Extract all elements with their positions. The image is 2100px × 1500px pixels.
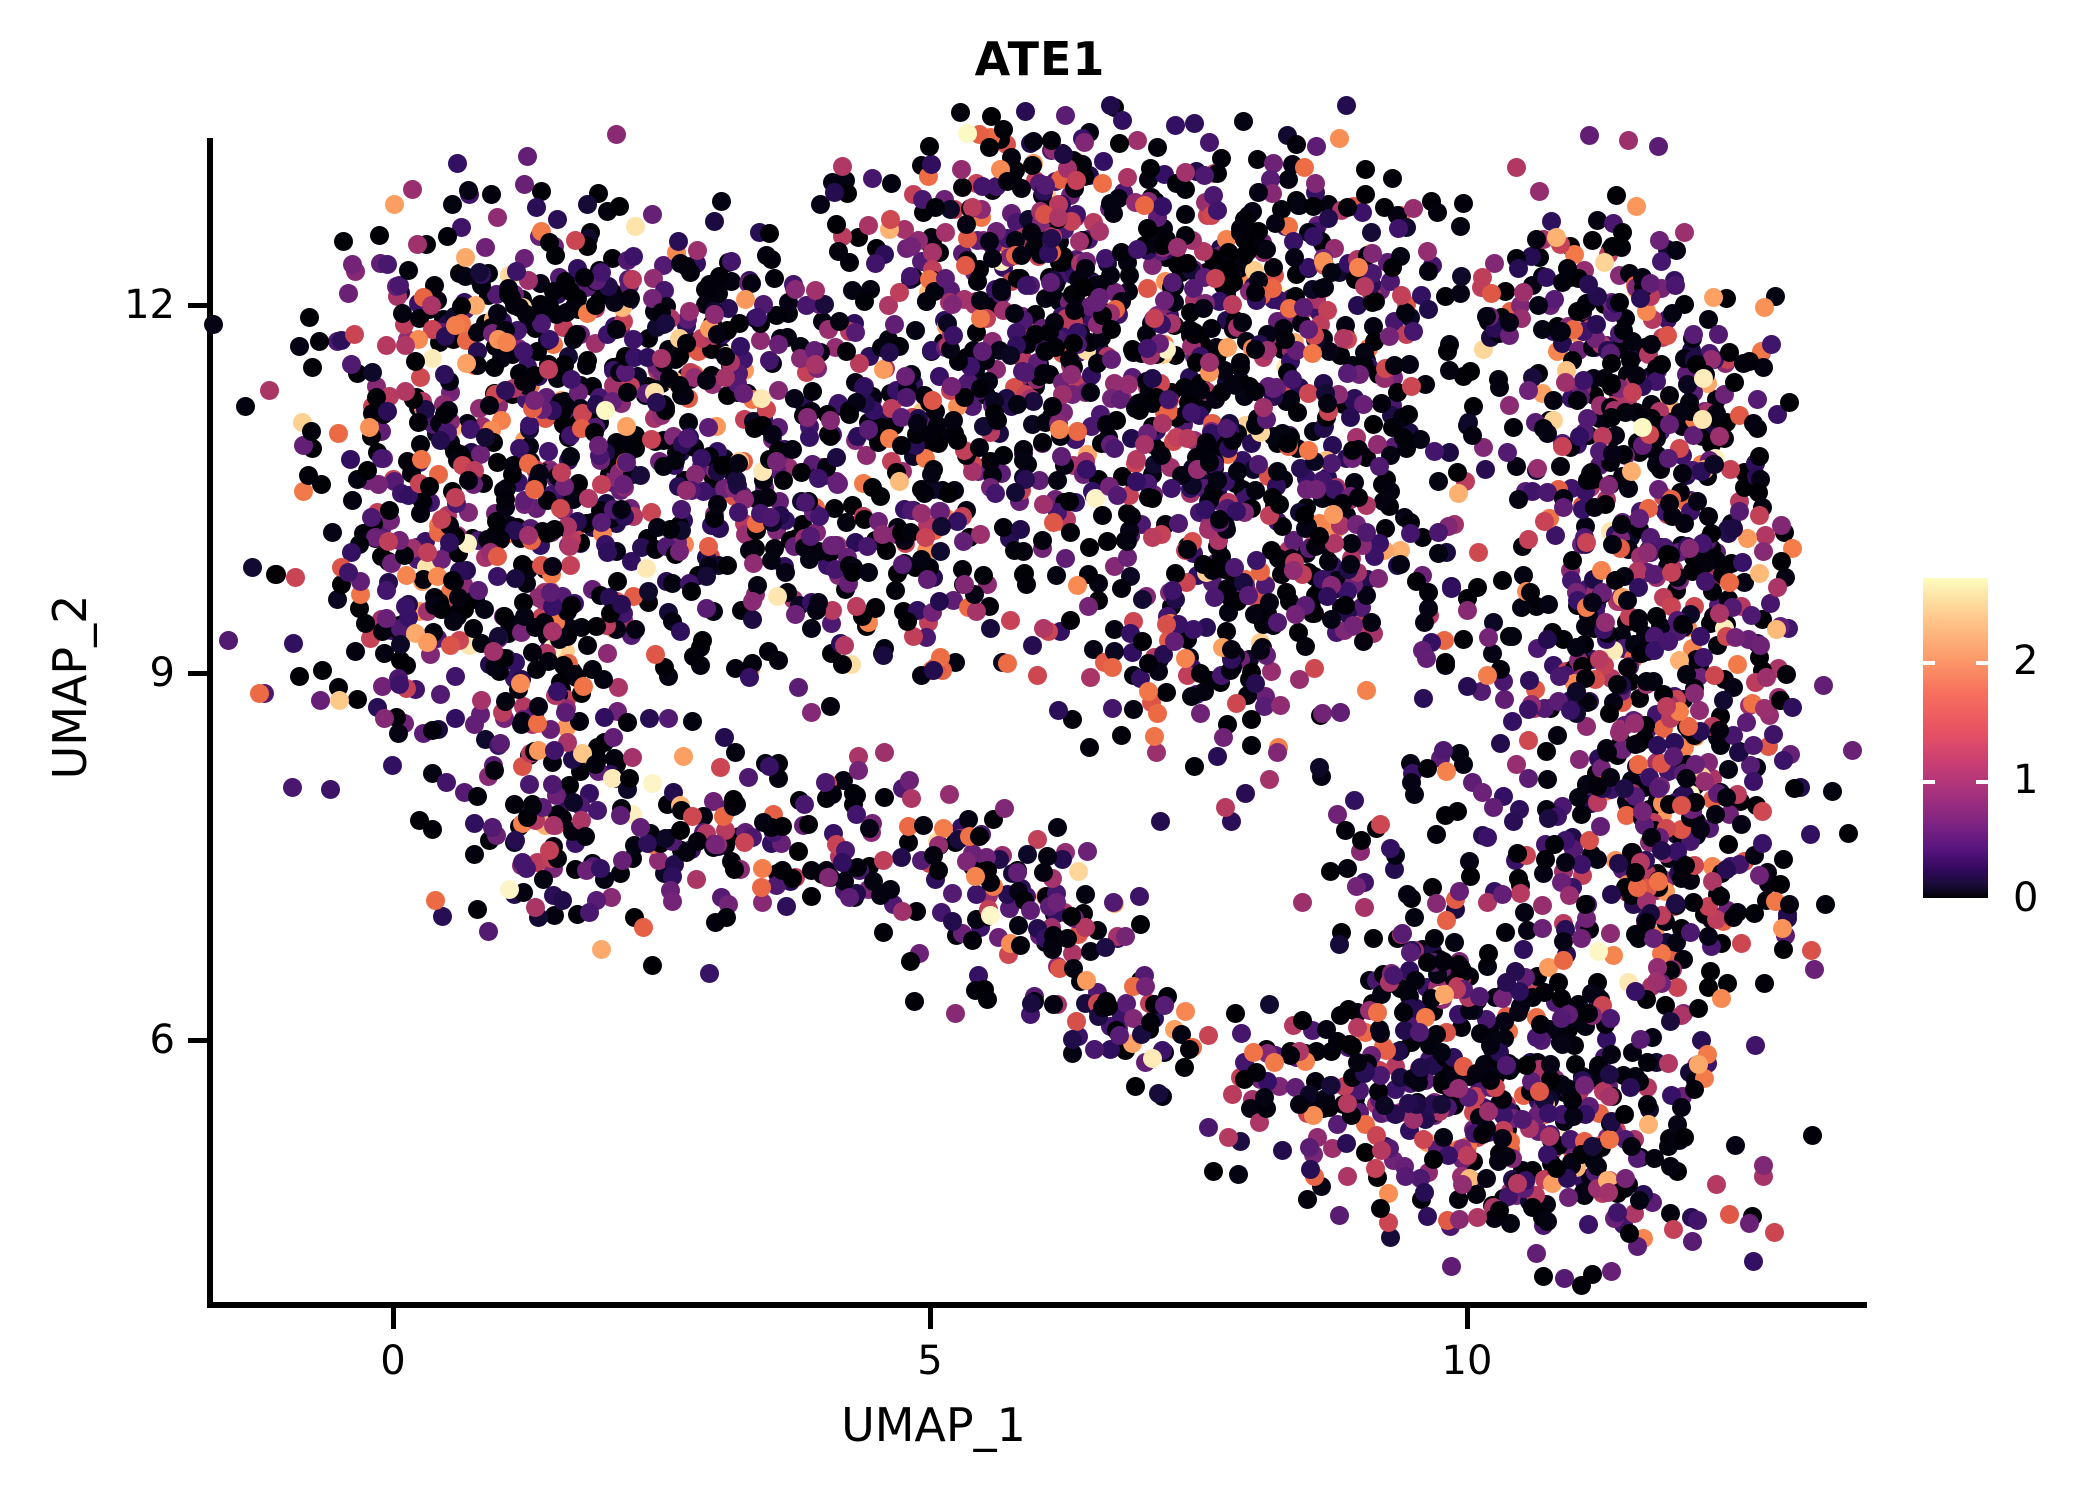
- scatter-point: [456, 248, 475, 267]
- scatter-point: [1744, 772, 1763, 791]
- scatter-point: [1348, 1053, 1367, 1072]
- scatter-point: [1567, 682, 1586, 701]
- scatter-point: [1551, 457, 1570, 476]
- scatter-point: [475, 600, 494, 619]
- scatter-point: [1279, 170, 1298, 189]
- scatter-point: [377, 581, 396, 600]
- colorbar-tick-mark: [1923, 780, 1935, 784]
- scatter-point: [922, 465, 941, 484]
- scatter-point: [520, 416, 539, 435]
- scatter-point: [1178, 540, 1197, 559]
- scatter-point: [1075, 133, 1094, 152]
- scatter-point: [266, 565, 285, 584]
- scatter-point: [1014, 451, 1033, 470]
- scatter-point: [1148, 704, 1167, 723]
- scatter-point: [437, 773, 456, 792]
- scatter-point: [1348, 1018, 1367, 1037]
- scatter-point: [1313, 704, 1332, 723]
- scatter-point: [914, 816, 933, 835]
- scatter-point: [1411, 1058, 1430, 1077]
- scatter-point: [1504, 418, 1523, 437]
- scatter-point: [892, 436, 911, 455]
- scatter-point: [1133, 590, 1152, 609]
- scatter-point: [1479, 628, 1498, 647]
- scatter-point: [1049, 208, 1068, 227]
- scatter-point: [643, 956, 662, 975]
- scatter-point: [468, 900, 487, 919]
- scatter-point: [1399, 405, 1418, 424]
- scatter-point: [1022, 994, 1041, 1013]
- scatter-point: [294, 482, 313, 501]
- scatter-point: [942, 377, 961, 396]
- scatter-point: [396, 597, 415, 616]
- scatter-point: [905, 992, 924, 1011]
- scatter-point: [470, 263, 489, 282]
- scatter-point: [1078, 842, 1097, 861]
- scatter-point: [1744, 1252, 1763, 1271]
- scatter-point: [1254, 398, 1273, 417]
- scatter-point: [408, 235, 427, 254]
- scatter-point: [1585, 498, 1604, 517]
- scatter-point: [924, 846, 943, 865]
- scatter-point: [1568, 391, 1587, 410]
- scatter-point: [800, 428, 819, 447]
- scatter-point: [1684, 893, 1703, 912]
- scatter-point: [918, 570, 937, 589]
- scatter-point: [363, 363, 382, 382]
- scatter-point: [1689, 999, 1708, 1018]
- scatter-point: [1038, 847, 1057, 866]
- scatter-point: [432, 510, 451, 529]
- scatter-point: [1024, 132, 1043, 151]
- scatter-point: [672, 500, 691, 519]
- scatter-point: [912, 504, 931, 523]
- scatter-point: [809, 469, 828, 488]
- scatter-point: [802, 887, 821, 906]
- scatter-point: [1219, 1128, 1238, 1147]
- scatter-point: [1175, 1058, 1194, 1077]
- scatter-point: [1603, 535, 1622, 554]
- scatter-point: [1751, 636, 1770, 655]
- scatter-point: [1375, 1096, 1394, 1115]
- scatter-point: [1389, 219, 1408, 238]
- scatter-point: [1392, 286, 1411, 305]
- scatter-point: [1602, 1262, 1621, 1281]
- scatter-point: [776, 563, 795, 582]
- scatter-point: [1028, 666, 1047, 685]
- scatter-point: [1673, 615, 1692, 634]
- scatter-point: [677, 257, 696, 276]
- scatter-point: [1418, 1207, 1437, 1226]
- scatter-point: [1572, 929, 1591, 948]
- scatter-point: [762, 250, 781, 269]
- scatter-point: [954, 532, 973, 551]
- scatter-point: [1338, 364, 1357, 383]
- scatter-point: [1226, 1004, 1245, 1023]
- scatter-point: [1750, 447, 1769, 466]
- scatter-point: [760, 224, 779, 243]
- x-tick-label: 0: [380, 1338, 405, 1384]
- scatter-point: [1299, 320, 1318, 339]
- scatter-point: [1531, 1015, 1550, 1034]
- scatter-point: [1750, 564, 1769, 583]
- scatter-point: [1018, 845, 1037, 864]
- scatter-point: [1764, 725, 1783, 744]
- scatter-point: [1310, 527, 1329, 546]
- scatter-point: [1081, 383, 1100, 402]
- x-tick-mark: [1465, 1307, 1470, 1329]
- scatter-point: [1352, 831, 1371, 850]
- scatter-point: [1755, 298, 1774, 317]
- scatter-point: [283, 778, 302, 797]
- scatter-point: [1116, 927, 1135, 946]
- scatter-point: [829, 242, 848, 261]
- scatter-point: [438, 227, 457, 246]
- scatter-point: [994, 446, 1013, 465]
- scatter-point: [882, 174, 901, 193]
- scatter-point: [1767, 620, 1786, 639]
- scatter-point: [564, 793, 583, 812]
- scatter-point: [1110, 134, 1129, 153]
- scatter-point: [472, 691, 491, 710]
- scatter-point: [1714, 691, 1733, 710]
- scatter-point: [1044, 513, 1063, 532]
- scatter-point: [1128, 131, 1147, 150]
- scatter-point: [708, 495, 727, 514]
- scatter-point: [1623, 383, 1642, 402]
- scatter-point: [1633, 802, 1652, 821]
- scatter-point: [1136, 977, 1155, 996]
- scatter-point: [1062, 365, 1081, 384]
- scatter-point: [982, 107, 1001, 126]
- colorbar-tick-label: 0: [2013, 875, 2038, 921]
- scatter-point: [1331, 703, 1350, 722]
- scatter-point: [1556, 373, 1575, 392]
- scatter-point: [1307, 137, 1326, 156]
- scatter-point: [578, 195, 597, 214]
- scatter-point: [484, 642, 503, 661]
- scatter-point: [1141, 159, 1160, 178]
- scatter-point: [1242, 710, 1261, 729]
- scatter-point: [1538, 630, 1557, 649]
- scatter-point: [1165, 632, 1184, 651]
- scatter-point: [1349, 258, 1368, 277]
- scatter-point: [1347, 877, 1366, 896]
- scatter-point: [1404, 199, 1423, 218]
- scatter-point: [500, 880, 519, 899]
- scatter-point: [866, 254, 885, 273]
- scatter-point: [1069, 862, 1088, 881]
- scatter-point: [688, 832, 707, 851]
- scatter-point: [773, 817, 792, 836]
- scatter-point: [1772, 552, 1791, 571]
- scatter-point: [1124, 700, 1143, 719]
- scatter-point: [1740, 1214, 1759, 1233]
- scatter-point: [767, 452, 786, 471]
- scatter-point: [379, 532, 398, 551]
- scatter-point: [1578, 409, 1597, 428]
- scatter-point: [1349, 488, 1368, 507]
- scatter-point: [1006, 483, 1025, 502]
- scatter-point: [1699, 927, 1718, 946]
- scatter-point: [1217, 419, 1236, 438]
- scatter-point: [1438, 342, 1457, 361]
- scatter-point: [1410, 1023, 1429, 1042]
- scatter-point: [1652, 355, 1671, 374]
- scatter-point: [560, 537, 579, 556]
- scatter-point: [1163, 273, 1182, 292]
- scatter-point: [1724, 908, 1743, 927]
- scatter-point: [545, 741, 564, 760]
- scatter-point: [411, 504, 430, 523]
- scatter-point: [1537, 742, 1556, 761]
- scatter-point: [1108, 486, 1127, 505]
- scatter-point: [769, 335, 788, 354]
- scatter-point: [1540, 1127, 1559, 1146]
- scatter-point: [1470, 987, 1489, 1006]
- scatter-point: [819, 868, 838, 887]
- scatter-point: [342, 355, 361, 374]
- scatter-point: [1336, 821, 1355, 840]
- scatter-point: [526, 898, 545, 917]
- scatter-point: [422, 296, 441, 315]
- scatter-point: [1225, 558, 1244, 577]
- scatter-point: [1489, 370, 1508, 389]
- scatter-point: [310, 332, 329, 351]
- scatter-point: [835, 636, 854, 655]
- scatter-point: [250, 684, 269, 703]
- scatter-point: [1508, 1174, 1527, 1193]
- scatter-point: [684, 647, 703, 666]
- scatter-point: [1168, 238, 1187, 257]
- scatter-point: [1563, 551, 1582, 570]
- scatter-point: [1135, 435, 1154, 454]
- scatter-point: [1236, 784, 1255, 803]
- scatter-point: [1318, 301, 1337, 320]
- scatter-point: [1755, 974, 1774, 993]
- scatter-point: [1044, 995, 1063, 1014]
- scatter-point: [1600, 1130, 1619, 1149]
- scatter-point: [1662, 563, 1681, 582]
- scatter-point: [743, 592, 762, 611]
- colorbar-tick-label: 1: [2013, 757, 2038, 803]
- scatter-point: [1534, 1267, 1553, 1286]
- scatter-point: [874, 851, 893, 870]
- scatter-point: [710, 267, 729, 286]
- scatter-point: [1023, 636, 1042, 655]
- scatter-point: [1357, 523, 1376, 542]
- scatter-point: [952, 160, 971, 179]
- scatter-point: [385, 195, 404, 214]
- scatter-point: [418, 543, 437, 562]
- scatter-point: [1547, 228, 1566, 247]
- scatter-point: [943, 295, 962, 314]
- scatter-point: [1246, 674, 1265, 693]
- scatter-point: [518, 147, 537, 166]
- scatter-point: [1428, 203, 1447, 222]
- scatter-point: [847, 597, 866, 616]
- scatter-point: [1436, 653, 1455, 672]
- scatter-point: [1450, 744, 1469, 763]
- scatter-point: [1021, 901, 1040, 920]
- scatter-point: [1127, 472, 1146, 491]
- scatter-point: [1666, 276, 1685, 295]
- scatter-point: [488, 304, 507, 323]
- scatter-point: [1748, 390, 1767, 409]
- scatter-point: [1398, 981, 1417, 1000]
- scatter-point: [596, 401, 615, 420]
- scatter-point: [1675, 223, 1694, 242]
- scatter-points-layer: [0, 0, 2100, 1500]
- scatter-point: [1667, 241, 1686, 260]
- scatter-point: [488, 208, 507, 227]
- scatter-point: [302, 422, 321, 441]
- scatter-point: [1033, 531, 1052, 550]
- scatter-point: [1178, 254, 1197, 273]
- scatter-point: [556, 703, 575, 722]
- scatter-point: [1081, 668, 1100, 687]
- scatter-point: [1761, 594, 1780, 613]
- scatter-point: [875, 743, 894, 762]
- scatter-point: [1754, 1156, 1773, 1175]
- scatter-point: [1434, 952, 1453, 971]
- scatter-point: [769, 651, 788, 670]
- scatter-point: [1380, 327, 1399, 346]
- scatter-point: [1424, 1150, 1443, 1169]
- scatter-point: [1419, 262, 1438, 281]
- scatter-point: [345, 325, 364, 344]
- scatter-point: [751, 331, 770, 350]
- y-tick-label: 12: [90, 282, 175, 328]
- scatter-point: [1194, 299, 1213, 318]
- scatter-point: [1318, 394, 1337, 413]
- scatter-point: [674, 747, 693, 766]
- scatter-point: [1576, 895, 1595, 914]
- scatter-point: [1719, 835, 1738, 854]
- scatter-point: [1774, 751, 1793, 770]
- scatter-point: [866, 599, 885, 618]
- scatter-point: [443, 195, 462, 214]
- scatter-point: [1587, 315, 1606, 334]
- scatter-point: [986, 484, 1005, 503]
- scatter-point: [725, 860, 744, 879]
- scatter-point: [687, 870, 706, 889]
- scatter-point: [1774, 940, 1793, 959]
- scatter-point: [697, 567, 716, 586]
- scatter-point: [1780, 393, 1799, 412]
- scatter-point: [1583, 1137, 1602, 1156]
- scatter-point: [1570, 750, 1589, 769]
- scatter-point: [926, 198, 945, 217]
- scatter-point: [348, 690, 367, 709]
- scatter-point: [1337, 96, 1356, 115]
- scatter-point: [998, 172, 1017, 191]
- scatter-point: [1750, 506, 1769, 525]
- scatter-point: [802, 703, 821, 722]
- scatter-point: [1381, 839, 1400, 858]
- scatter-point: [1130, 887, 1149, 906]
- scatter-point: [303, 358, 322, 377]
- scatter-point: [1357, 681, 1376, 700]
- scatter-point: [515, 175, 534, 194]
- scatter-point: [912, 550, 931, 569]
- scatter-point: [592, 513, 611, 532]
- scatter-point: [618, 383, 637, 402]
- scatter-point: [575, 268, 594, 287]
- scatter-point: [1538, 770, 1557, 789]
- scatter-point: [859, 216, 878, 235]
- scatter-point: [981, 619, 1000, 638]
- scatter-point: [995, 799, 1014, 818]
- scatter-point: [1394, 1003, 1413, 1022]
- scatter-point: [1330, 129, 1349, 148]
- scatter-point: [1176, 205, 1195, 224]
- scatter-point: [1676, 856, 1695, 875]
- scatter-point: [970, 438, 989, 457]
- colorbar: 012: [1923, 578, 2083, 908]
- scatter-point: [514, 342, 533, 361]
- scatter-point: [1753, 834, 1772, 853]
- scatter-point: [643, 774, 662, 793]
- scatter-point: [1368, 1003, 1387, 1022]
- scatter-point: [840, 888, 859, 907]
- scatter-point: [1036, 176, 1055, 195]
- scatter-point: [1661, 1012, 1680, 1031]
- scatter-point: [1732, 815, 1751, 834]
- scatter-point: [1579, 1215, 1598, 1234]
- scatter-point: [1493, 571, 1512, 590]
- scatter-point: [886, 581, 905, 600]
- scatter-point: [1539, 595, 1558, 614]
- scatter-point: [1659, 632, 1678, 651]
- scatter-point: [740, 668, 759, 687]
- scatter-point: [1493, 885, 1512, 904]
- scatter-point: [1077, 460, 1096, 479]
- scatter-point: [1561, 701, 1580, 720]
- scatter-point: [1405, 908, 1424, 927]
- x-tick-mark: [928, 1307, 933, 1329]
- scatter-point: [1063, 1030, 1082, 1049]
- scatter-point: [973, 177, 992, 196]
- scatter-point: [1293, 893, 1312, 912]
- scatter-point: [1364, 929, 1383, 948]
- scatter-point: [389, 724, 408, 743]
- scatter-point: [1133, 632, 1152, 651]
- scatter-point: [1504, 812, 1523, 831]
- scatter-point: [1008, 395, 1027, 414]
- scatter-point: [412, 450, 431, 469]
- scatter-point: [1544, 391, 1563, 410]
- scatter-point: [1802, 941, 1821, 960]
- scatter-point: [1166, 116, 1185, 135]
- scatter-point: [1709, 325, 1728, 344]
- scatter-point: [1683, 1232, 1702, 1251]
- scatter-point: [1458, 601, 1477, 620]
- scatter-point: [1138, 279, 1157, 298]
- scatter-point: [377, 336, 396, 355]
- scatter-point: [378, 402, 397, 421]
- scatter-point: [1391, 555, 1410, 574]
- scatter-point: [1690, 701, 1709, 720]
- scatter-point: [1228, 462, 1247, 481]
- scatter-point: [1625, 714, 1644, 733]
- scatter-point: [1599, 1183, 1618, 1202]
- scatter-point: [1429, 544, 1448, 563]
- scatter-point: [626, 217, 645, 236]
- scatter-point: [1627, 366, 1646, 385]
- scatter-point: [1530, 182, 1549, 201]
- scatter-point: [329, 424, 348, 443]
